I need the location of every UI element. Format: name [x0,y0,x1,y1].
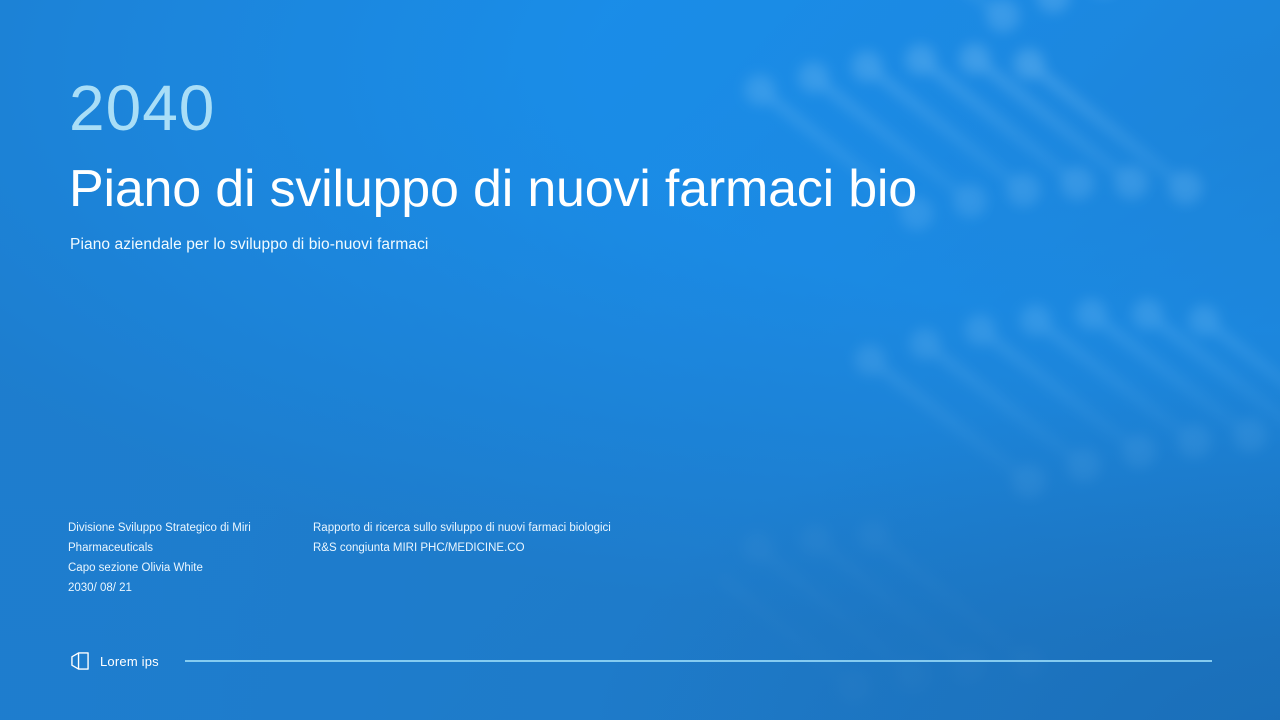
slide-footer: Lorem ips [69,650,1212,672]
meta-line: Divisione Sviluppo Strategico di Miri Ph… [68,518,313,558]
meta-block: Divisione Sviluppo Strategico di Miri Ph… [68,518,733,598]
meta-line: R&S congiunta MIRI PHC/MEDICINE.CO [313,538,733,558]
footer-divider [185,660,1212,662]
slide-year: 2040 [69,76,215,140]
page-title: Piano di sviluppo di nuovi farmaci bio [69,160,917,218]
meta-line: Capo sezione Olivia White [68,558,313,578]
meta-column-left: Divisione Sviluppo Strategico di Miri Ph… [68,518,313,598]
footer-logo-label: Lorem ips [100,654,159,669]
title-slide: 2040 Piano di sviluppo di nuovi farmaci … [0,0,1280,720]
meta-line: 2030/ 08/ 21 [68,578,313,598]
slide-content: 2040 Piano di sviluppo di nuovi farmaci … [0,0,1280,720]
meta-column-right: Rapporto di ricerca sullo sviluppo di nu… [313,518,733,598]
meta-line: Rapporto di ricerca sullo sviluppo di nu… [313,518,733,538]
cube-outline-icon [69,650,91,672]
page-subtitle: Piano aziendale per lo sviluppo di bio-n… [70,236,428,254]
